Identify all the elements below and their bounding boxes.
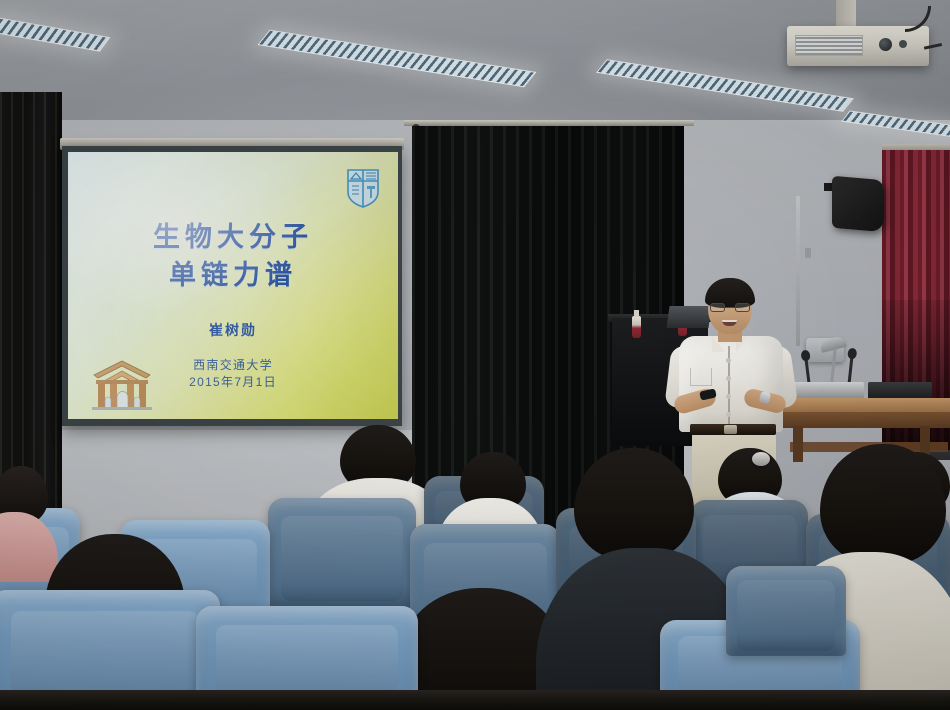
water-bottle-icon bbox=[632, 316, 641, 338]
wall-trim bbox=[796, 196, 800, 346]
red-curtain-shadow bbox=[882, 300, 950, 460]
presenter-laptop[interactable] bbox=[666, 306, 711, 328]
hair-tie-icon bbox=[752, 452, 770, 466]
floor bbox=[0, 690, 950, 710]
projection-screen: 生物大分子 单链力谱 崔树勋 西南交通大学 2015年7月1日 bbox=[68, 152, 398, 419]
university-crest-icon bbox=[346, 168, 380, 208]
av-table-leg bbox=[793, 426, 803, 462]
shirt-button bbox=[726, 394, 731, 399]
slide-title-line-2: 单链力谱 bbox=[68, 256, 398, 294]
slide-author: 崔树勋 bbox=[68, 320, 398, 340]
audience-head bbox=[820, 444, 946, 564]
shirt-button bbox=[726, 376, 731, 381]
slide-title-line-1: 生物大分子 bbox=[68, 218, 398, 256]
shirt-button bbox=[726, 358, 731, 363]
belt-buckle-icon bbox=[724, 425, 737, 434]
wall-speaker-icon bbox=[832, 176, 884, 233]
ceiling-projector bbox=[787, 26, 929, 66]
projector-knob-icon bbox=[899, 40, 907, 48]
audio-mixer[interactable] bbox=[788, 382, 864, 399]
lecture-hall-photo: 生物大分子 单链力谱 崔树勋 西南交通大学 2015年7月1日 bbox=[0, 0, 950, 710]
projection-screen-frame: 生物大分子 单链力谱 崔树勋 西南交通大学 2015年7月1日 bbox=[62, 146, 402, 426]
auditorium-seat[interactable] bbox=[268, 498, 416, 608]
projector-lens-icon bbox=[879, 38, 892, 51]
campus-archway-icon bbox=[84, 353, 160, 411]
auditorium-seat[interactable] bbox=[726, 566, 846, 656]
glasses-icon bbox=[710, 303, 750, 312]
audience-head bbox=[574, 448, 694, 560]
audio-equipment[interactable] bbox=[868, 382, 932, 399]
shirt-button bbox=[726, 412, 731, 417]
slide-title: 生物大分子 单链力谱 bbox=[68, 218, 398, 295]
projector-vent-icon bbox=[795, 35, 863, 56]
shirt-pocket bbox=[690, 368, 712, 386]
wall-switch-icon[interactable] bbox=[805, 248, 811, 258]
